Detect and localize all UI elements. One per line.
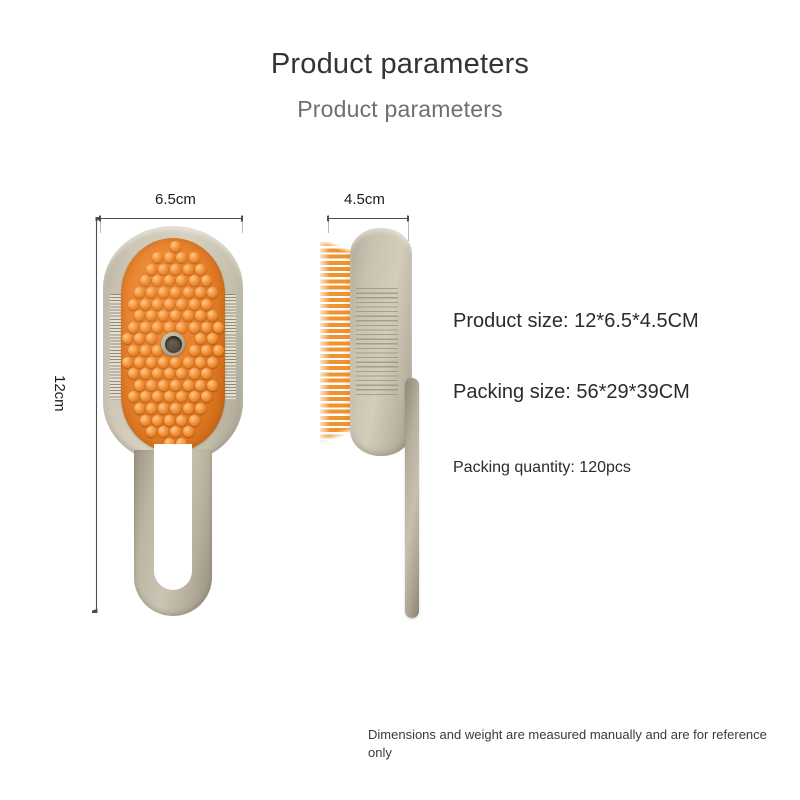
silicone-nub: [122, 333, 133, 344]
silicone-nub: [170, 287, 181, 298]
brush-head-frame-front: [103, 226, 243, 464]
silicone-nub: [152, 368, 163, 379]
silicone-nub: [158, 310, 169, 321]
silicone-nub: [170, 241, 181, 252]
silicone-nub: [146, 333, 157, 344]
silicone-nub: [146, 264, 157, 275]
silicone-nub: [170, 380, 181, 391]
silicone-nub: [170, 310, 181, 321]
silicone-brush-pad: [121, 238, 225, 452]
silicone-nub: [195, 287, 206, 298]
bristle-bottom-taper: [320, 422, 354, 448]
silicone-nub: [146, 287, 157, 298]
silicone-nub: [189, 322, 200, 333]
dimension-arrow-height: [92, 217, 101, 613]
silicone-nub: [183, 357, 194, 368]
silicone-nub: [176, 252, 187, 263]
silicone-nub: [170, 264, 181, 275]
silicone-nub: [158, 357, 169, 368]
silicone-nub: [207, 380, 218, 391]
silicone-nub: [134, 380, 145, 391]
body-ridge-lines: [356, 288, 398, 396]
silicone-nub: [189, 345, 200, 356]
silicone-nub: [140, 391, 151, 402]
silicone-nub: [189, 415, 200, 426]
spec-packing-size: Packing size: 56*29*39CM: [453, 381, 690, 404]
silicone-nub: [152, 391, 163, 402]
handle-loop-opening: [154, 444, 192, 590]
bristle-top-taper: [320, 236, 354, 256]
dimension-arrow-side-width: [327, 214, 409, 223]
silicone-nub: [152, 299, 163, 310]
silicone-nub: [176, 368, 187, 379]
silicone-nub: [201, 322, 212, 333]
silicone-nub: [158, 426, 169, 437]
silicone-nub: [164, 275, 175, 286]
silicone-nub: [170, 357, 181, 368]
silicone-nub: [164, 368, 175, 379]
brush-body-side: [350, 228, 412, 456]
silicone-nub: [140, 415, 151, 426]
silicone-nub: [183, 310, 194, 321]
measurement-disclaimer: Dimensions and weight are measured manua…: [368, 726, 788, 761]
silicone-nub: [207, 287, 218, 298]
silicone-nub: [152, 275, 163, 286]
product-front-view-illustration: [103, 226, 243, 616]
silicone-nub: [195, 357, 206, 368]
silicone-nub: [134, 403, 145, 414]
center-spray-hole: [165, 336, 182, 353]
silicone-nub: [201, 299, 212, 310]
silicone-nub: [146, 380, 157, 391]
silicone-nub: [146, 403, 157, 414]
silicone-nub: [201, 275, 212, 286]
silicone-bristles-side: [320, 236, 354, 446]
silicone-nub: [128, 299, 139, 310]
silicone-nub: [164, 252, 175, 263]
product-parameters-page: Product parameters Product parameters 6: [0, 0, 800, 800]
silicone-nub: [146, 357, 157, 368]
silicone-nub: [213, 322, 224, 333]
silicone-nub: [176, 322, 187, 333]
silicone-nub: [201, 345, 212, 356]
silicone-nub: [183, 403, 194, 414]
silicone-nub: [140, 299, 151, 310]
silicone-nub: [152, 415, 163, 426]
silicone-nub: [128, 368, 139, 379]
silicone-nub: [140, 322, 151, 333]
brush-handle-loop-front: [134, 450, 212, 616]
silicone-nub: [183, 426, 194, 437]
silicone-nub: [176, 415, 187, 426]
silicone-nub: [128, 345, 139, 356]
brush-handle-side: [405, 378, 419, 618]
silicone-nub: [164, 415, 175, 426]
silicone-nub: [128, 322, 139, 333]
silicone-nub: [158, 380, 169, 391]
silicone-nub: [140, 275, 151, 286]
dimension-label-side-width: 4.5cm: [344, 191, 385, 208]
center-spray-hole-ring: [161, 332, 185, 356]
silicone-nub: [122, 357, 133, 368]
spec-product-size: Product size: 12*6.5*4.5CM: [453, 310, 699, 333]
silicone-nub: [207, 333, 218, 344]
silicone-nub: [213, 345, 224, 356]
silicone-nub: [176, 299, 187, 310]
silicone-nub: [164, 299, 175, 310]
silicone-nub: [146, 310, 157, 321]
page-title: Product parameters: [0, 48, 800, 81]
product-side-view-illustration: [320, 228, 440, 620]
silicone-nub: [189, 368, 200, 379]
silicone-nub: [207, 310, 218, 321]
silicone-nub: [183, 380, 194, 391]
silicone-nub: [170, 403, 181, 414]
silicone-nub: [140, 368, 151, 379]
silicone-nub: [189, 252, 200, 263]
silicone-nub: [158, 287, 169, 298]
silicone-nub: [183, 287, 194, 298]
silicone-nub: [158, 264, 169, 275]
dimension-label-front-width: 6.5cm: [155, 191, 196, 208]
spec-packing-quantity: Packing quantity: 120pcs: [453, 459, 631, 477]
silicone-nub: [158, 403, 169, 414]
dimension-arrow-front-width: [99, 214, 243, 223]
silicone-nub: [134, 287, 145, 298]
silicone-nub: [195, 380, 206, 391]
silicone-nub: [128, 391, 139, 402]
silicone-nub: [183, 264, 194, 275]
dimension-label-height: 12cm: [51, 375, 68, 412]
silicone-nub: [195, 264, 206, 275]
silicone-nub: [189, 275, 200, 286]
silicone-nub: [146, 426, 157, 437]
silicone-nub: [164, 391, 175, 402]
silicone-nub: [176, 391, 187, 402]
silicone-nub: [201, 391, 212, 402]
silicone-nub: [134, 333, 145, 344]
page-subtitle: Product parameters: [0, 96, 800, 123]
silicone-nub: [134, 357, 145, 368]
silicone-nub: [189, 391, 200, 402]
silicone-nub: [140, 345, 151, 356]
silicone-nub: [170, 426, 181, 437]
silicone-nub: [195, 333, 206, 344]
silicone-nub: [189, 299, 200, 310]
silicone-nub: [176, 275, 187, 286]
silicone-nub: [152, 252, 163, 263]
silicone-nub: [201, 368, 212, 379]
silicone-nub: [195, 403, 206, 414]
silicone-nub: [134, 310, 145, 321]
silicone-nub: [152, 322, 163, 333]
silicone-nub: [207, 357, 218, 368]
silicone-nub: [195, 310, 206, 321]
